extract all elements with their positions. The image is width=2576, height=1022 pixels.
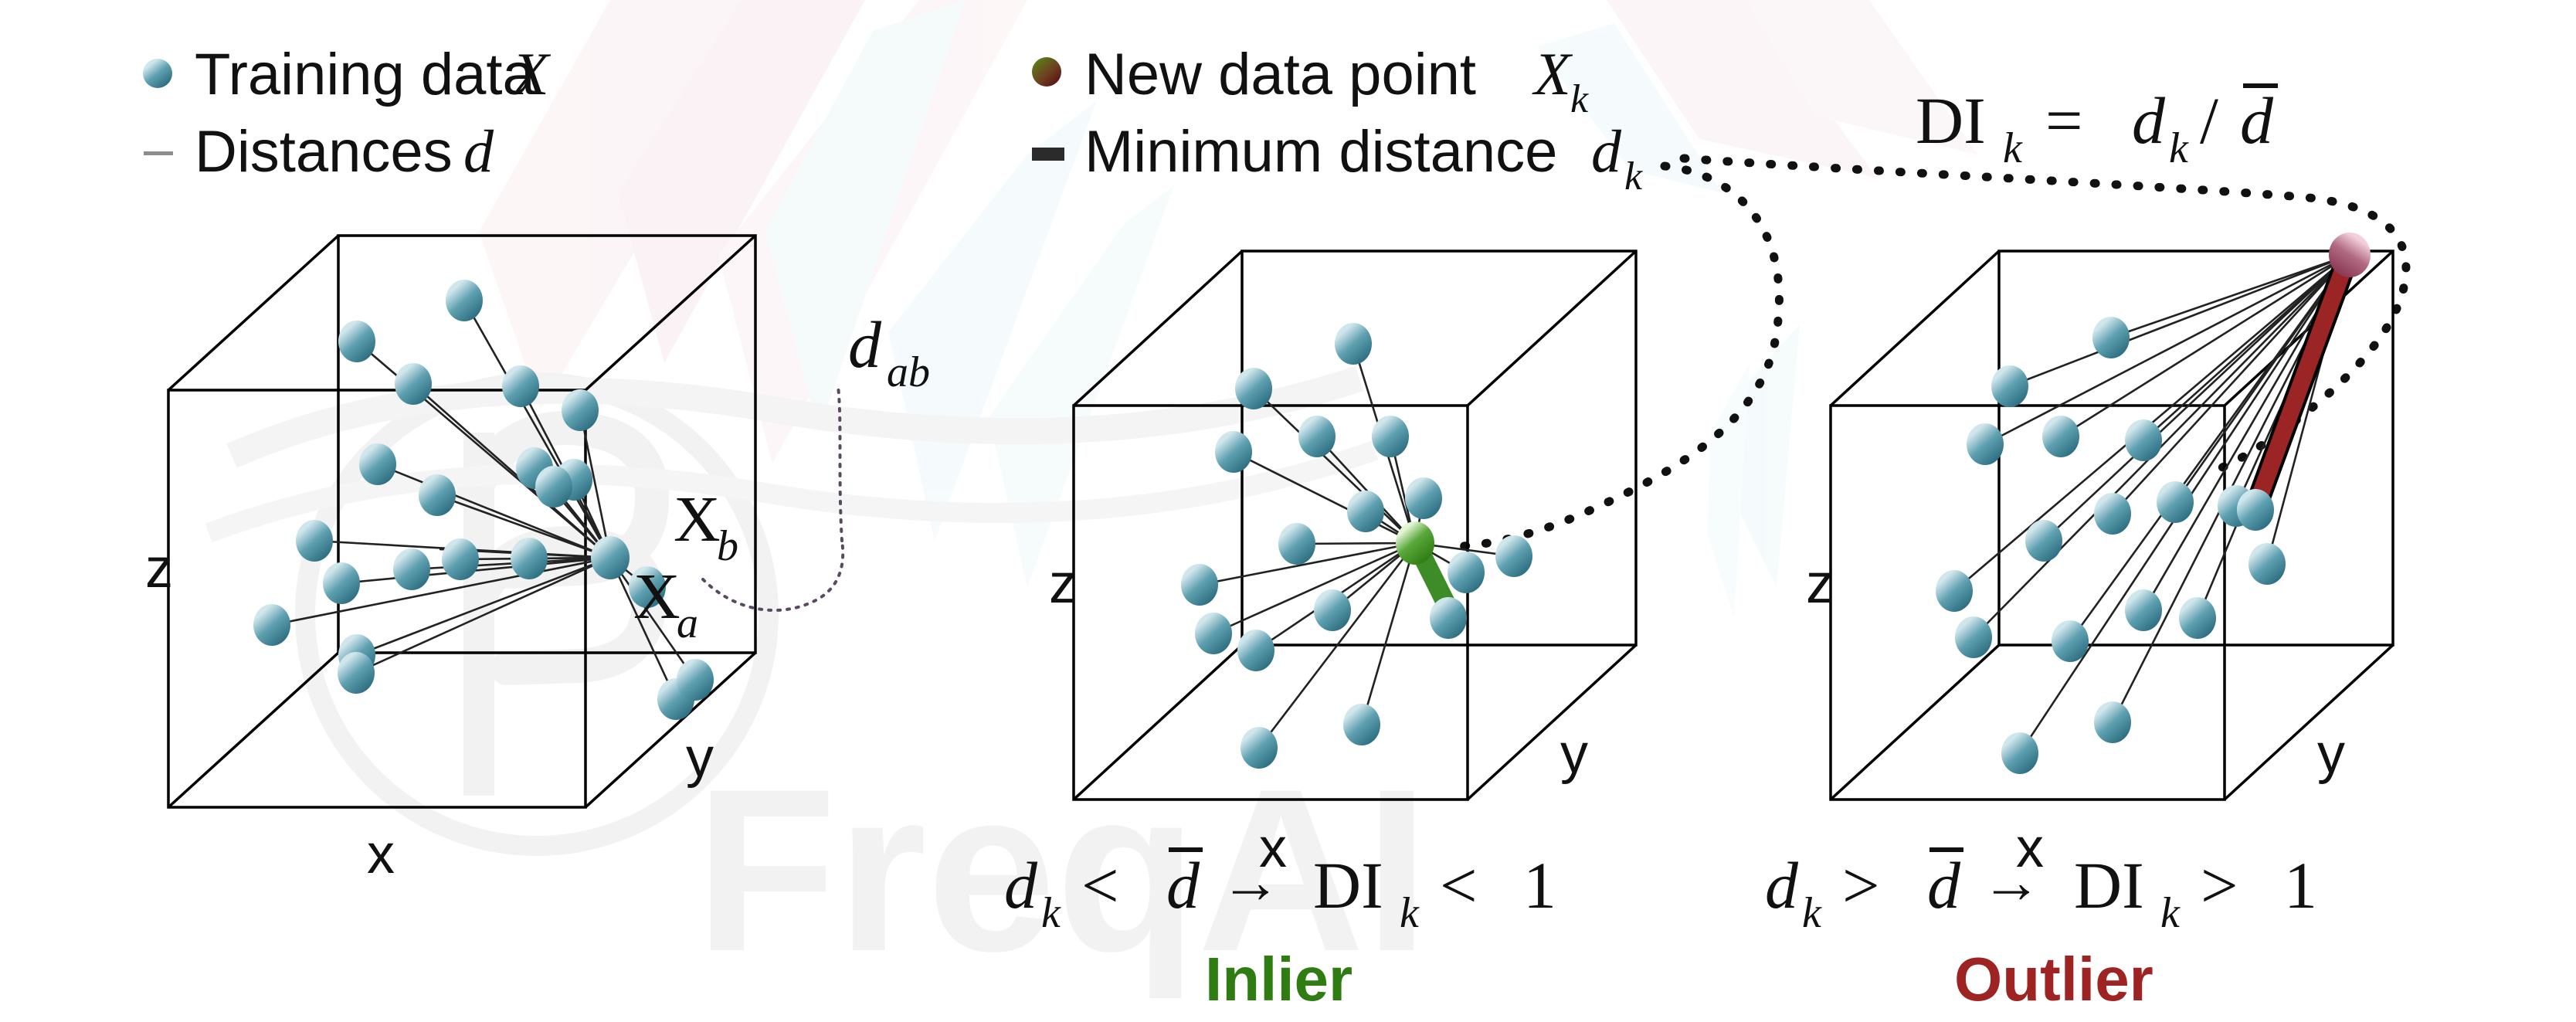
cube-edge-bl [168,653,338,807]
inlier-formula-op1: < [1081,848,1119,922]
di-numerator-subscript: k [2169,124,2189,172]
legend-symbol-Xk: X [1532,40,1573,107]
axis-label-z-panel-2: z [1049,553,1077,615]
legend-label-new-data-point: New data point [1084,42,1492,107]
new-data-point-outlier [2329,233,2371,277]
dab-leader-line-upper [838,386,842,541]
di-denominator-overbar [2243,83,2278,88]
inlier-formula-di-subscript: k [1400,889,1420,937]
training-point-dot-icon [143,59,172,88]
training-point [2052,620,2089,662]
verdict-outlier: Outlier [1954,945,2153,1014]
legend-label-distances: Distances [195,119,469,185]
training-point [2157,481,2194,523]
di-lhs: DI [1916,83,1986,158]
legend-left: Training data X Distances d [143,40,552,185]
training-point [253,604,290,646]
training-points-panel-3 [1936,317,2286,774]
inlier-formula-arrow-icon: → [1220,847,1281,915]
legend-symbol-Xk-subscript: k [1570,77,1589,121]
axis-label-y-panel-2: y [1560,723,1588,785]
point-label-Xa-subscript: a [677,599,698,647]
outlier-formula-op1: > [1842,848,1880,922]
training-point [677,659,714,701]
distance-label-dab: d [848,307,882,382]
outlier-formula-di-subscript: k [2160,889,2181,937]
training-point [1955,616,1992,658]
distance-lines-outlier [1954,255,2350,753]
outlier-formula-dbar-overbar [1929,847,1963,852]
training-point [1335,323,1372,365]
training-point [1240,727,1278,769]
training-point [1215,431,1252,473]
new-data-point-dot-icon [1032,57,1061,87]
training-point [1967,423,2004,465]
training-point [338,321,375,362]
training-points-panel-2 [1181,323,1532,769]
inlier-formula-di: DI [1313,848,1383,922]
legend-symbol-dk: d [1591,117,1622,185]
axis-label-y-panel-1: y [686,727,714,789]
di-numerator: d [2132,83,2166,158]
training-point [359,443,396,485]
training-point [2092,317,2130,358]
axis-label-x-panel-1: x [367,823,395,885]
legend-label-training-data: Training data [195,42,552,107]
training-point [2001,732,2038,774]
outlier-formula-dbar: d [1927,848,1961,922]
cube-edge-tl [168,236,338,390]
training-point [338,652,375,694]
new-data-point-inlier [1396,521,1434,565]
axis-label-z-panel-3: z [1806,553,1834,615]
training-point [2248,543,2286,585]
caption-outlier: d k > d → DI k > 1 Outlier [1765,847,2317,1014]
axis-label-y-panel-3: y [2317,723,2345,785]
training-point [1278,523,1315,565]
inlier-formula-op2: < [1440,848,1478,922]
inlier-formula-dbar: d [1166,848,1200,922]
outlier-formula-dk: d [1765,848,1799,922]
inlier-formula-value: 1 [1523,848,1556,922]
panel-inlier: z x y [1049,251,1636,879]
training-point [502,365,539,407]
training-point [1347,491,1384,532]
cube-edge-br [585,653,755,807]
training-point [395,363,432,405]
training-point [2025,520,2062,562]
di-slash: / [2200,83,2218,158]
axis-label-z-panel-1: z [145,538,173,599]
outlier-formula-value: 1 [2284,848,2317,922]
training-point [1343,704,1380,745]
training-point [2042,416,2079,457]
cube-edge-tr [585,236,755,390]
training-point [1495,535,1532,577]
legend-symbol-X: X [510,40,552,107]
di-lhs-subscript: k [2003,124,2023,172]
caption-inlier: d k < d → DI k < 1 Inlier [1004,847,1556,1014]
training-point [1237,630,1274,671]
training-point [1181,564,1218,606]
training-point [323,562,360,604]
training-point [442,538,479,580]
training-point [1235,368,1272,409]
training-point-nearest [1430,597,1467,639]
training-point [1298,416,1336,457]
inlier-formula-dk: d [1004,848,1038,922]
training-point [2125,589,2162,631]
outlier-formula-arrow-icon: → [1981,847,2041,915]
di-definition-formula: DI k = d k / d [1916,83,2278,172]
verdict-inlier: Inlier [1205,945,1352,1014]
training-point [2125,419,2162,461]
training-point [511,538,548,579]
training-point [1372,416,1409,457]
distance-label-dab-subscript: ab [887,348,930,396]
training-point [2094,701,2131,743]
outlier-formula-dk-subscript: k [1802,889,1822,937]
outlier-formula-op2: > [2201,848,2238,922]
training-point [535,466,572,508]
point-label-Xb-subscript: b [717,522,738,570]
training-point [562,389,599,431]
connector-dk-to-inlier [1451,166,1779,547]
training-point-Xa-hub [591,536,630,579]
di-denominator: d [2240,83,2274,158]
panel-outlier: z x y [1806,233,2393,879]
training-point [393,548,430,590]
training-point [1936,570,1973,612]
min-distance-dash-icon [1032,148,1064,161]
training-point [296,520,333,562]
training-point-nearest [2237,489,2274,531]
distance-lines-training [272,300,695,699]
cube-wireframe-training [168,236,755,807]
figure-canvas: FreqAI Training data X Distances d New d… [0,0,2576,1022]
legend-symbol-d: d [463,117,494,185]
training-point [419,474,456,516]
training-point [2179,597,2216,639]
diagram-layer: Training data X Distances d New data poi… [0,0,2576,1022]
training-point [1405,477,1442,519]
training-point [1314,589,1351,631]
di-equals: = [2045,83,2083,158]
point-label-Xa: X [633,561,680,633]
training-point [1448,552,1485,593]
distance-line-dash-icon [144,151,173,155]
legend-label-minimum-distance: Minimum distance [1084,119,1574,185]
outlier-formula-di: DI [2074,848,2144,922]
panel-training-data: z x y X b X a d ab [145,236,930,885]
training-point [1991,365,2028,407]
training-point [1195,613,1232,654]
legend-symbol-dk-subscript: k [1624,154,1643,199]
point-label-Xb: X [674,484,721,555]
legend-right: New data point X k Minimum distance d k [1032,40,1643,199]
training-point [446,280,483,321]
training-point [2094,493,2131,535]
inlier-formula-dk-subscript: k [1041,889,1061,937]
inlier-formula-dbar-overbar [1169,847,1203,852]
